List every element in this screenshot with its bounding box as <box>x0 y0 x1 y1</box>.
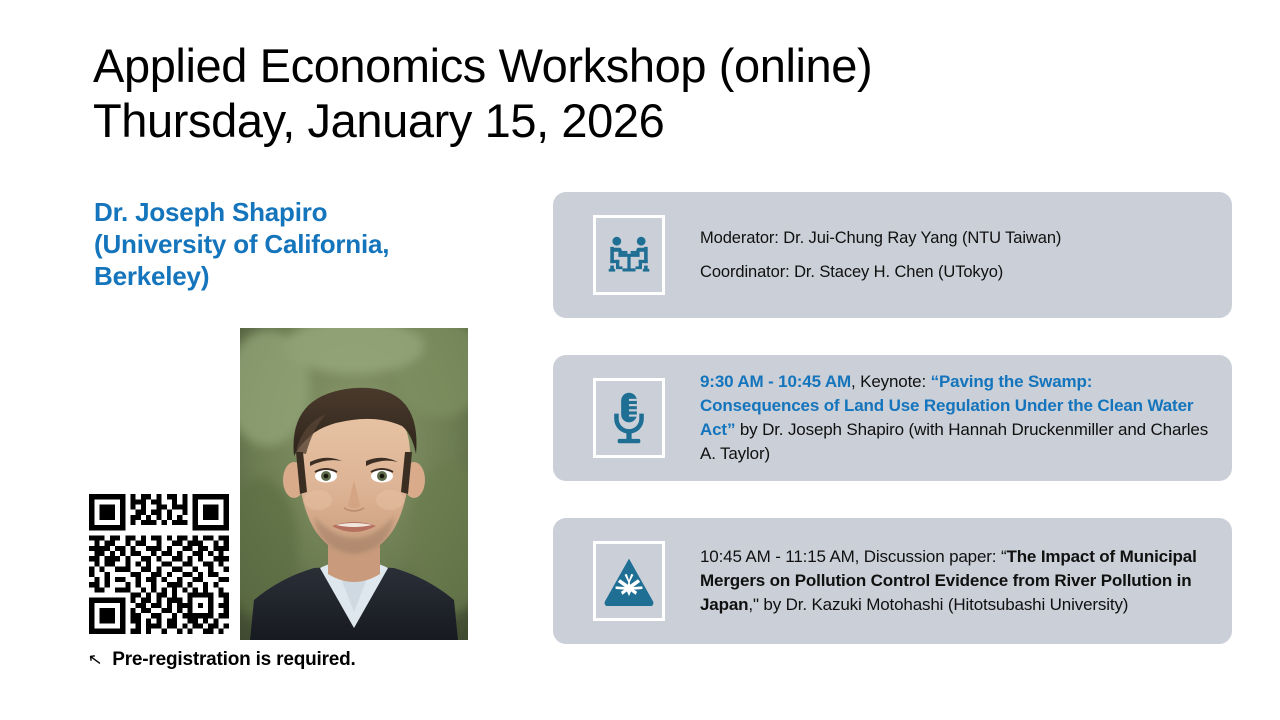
discussion-card-body: 10:45 AM - 11:15 AM, Discussion paper: “… <box>700 545 1210 617</box>
discussion-time: 10:45 AM - 11:15 AM <box>700 547 855 566</box>
keynote-time: 9:30 AM - 10:45 AM <box>700 372 851 391</box>
moderators-card: Moderator: Dr. Jui-Chung Ray Yang (NTU T… <box>553 192 1232 318</box>
title-line-1: Applied Economics Workshop (online) <box>93 38 1093 93</box>
discussion-authors: ," by Dr. Kazuki Motohashi (Hitotsubashi… <box>748 595 1128 614</box>
keynote-card: 9:30 AM - 10:45 AM, Keynote: “Paving the… <box>553 355 1232 481</box>
coordinator-line: Coordinator: Dr. Stacey H. Chen (UTokyo) <box>700 262 1210 282</box>
discussion-session-text: 10:45 AM - 11:15 AM, Discussion paper: “… <box>700 545 1210 617</box>
pre-registration-text: Pre-registration is required. <box>112 649 355 671</box>
up-left-arrow-icon: ↖ <box>87 649 104 671</box>
people-at-table-icon <box>593 215 665 295</box>
page-title: Applied Economics Workshop (online) Thur… <box>93 38 1093 148</box>
speaker-name-line-3: Berkeley) <box>94 260 524 292</box>
speaker-photo <box>240 328 468 640</box>
speaker-name: Dr. Joseph Shapiro (University of Califo… <box>94 196 524 292</box>
keynote-session-text: 9:30 AM - 10:45 AM, Keynote: “Paving the… <box>700 370 1210 466</box>
microphone-icon <box>593 378 665 458</box>
registration-qr-code[interactable] <box>84 489 234 639</box>
speaker-name-line-1: Dr. Joseph Shapiro <box>94 196 524 228</box>
speaker-name-line-2: (University of California, <box>94 228 524 260</box>
discussion-card: 10:45 AM - 11:15 AM, Discussion paper: “… <box>553 518 1232 644</box>
keynote-authors: by Dr. Joseph Shapiro (with Hannah Druck… <box>700 420 1208 463</box>
title-line-2: Thursday, January 15, 2026 <box>93 93 1093 148</box>
moderator-line: Moderator: Dr. Jui-Chung Ray Yang (NTU T… <box>700 228 1210 248</box>
explosion-triangle-icon <box>593 541 665 621</box>
moderators-card-body: Moderator: Dr. Jui-Chung Ray Yang (NTU T… <box>700 228 1210 282</box>
keynote-separator: , Keynote: <box>851 372 931 391</box>
discussion-separator: , Discussion paper: “ <box>855 547 1007 566</box>
keynote-card-body: 9:30 AM - 10:45 AM, Keynote: “Paving the… <box>700 370 1210 466</box>
pre-registration-note: ↖ Pre-registration is required. <box>88 649 356 671</box>
